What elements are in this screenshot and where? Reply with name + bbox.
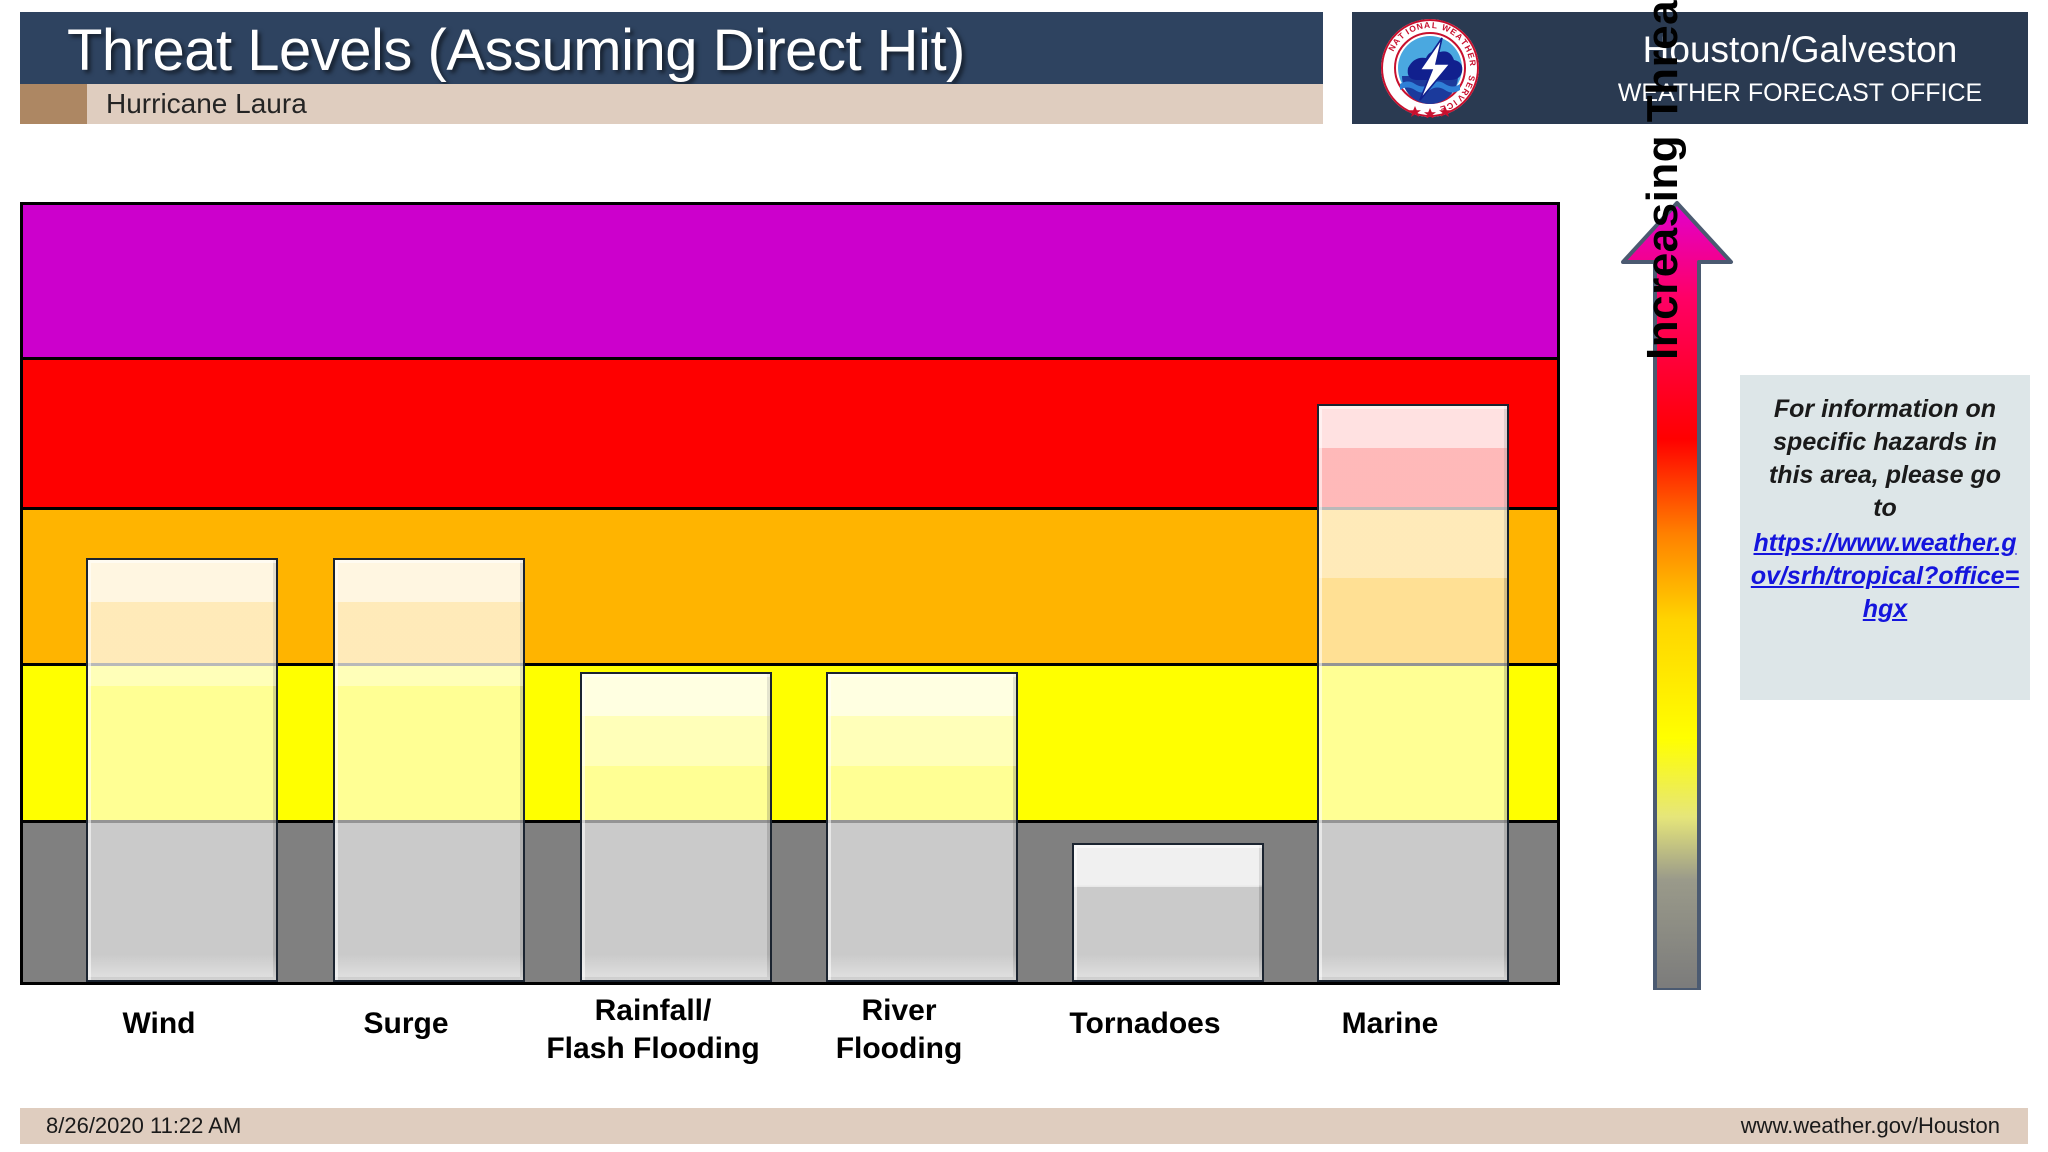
bar-marine (1317, 404, 1509, 982)
info-line-2: specific hazards in (1748, 426, 2022, 459)
office-panel: N A T I O N A L W E A T H E R S E (1352, 12, 2028, 124)
category-line: Flash Flooding (520, 1030, 786, 1068)
category-line: River (778, 992, 1020, 1030)
category-label-river-flooding: River Flooding (778, 992, 1020, 1068)
threat-level-chart (20, 202, 1560, 985)
category-line: Rainfall/ (520, 992, 786, 1030)
bar-river-flooding (826, 672, 1018, 982)
tropical-info-link[interactable]: https://www.weather.gov/srh/tropical?off… (1748, 527, 2022, 626)
bar-surge (333, 558, 525, 982)
increasing-threat-label: Increasing Threat (1638, 0, 1688, 360)
title-bar: Threat Levels (Assuming Direct Hit) (20, 12, 1323, 84)
info-line-1: For information on (1748, 393, 2022, 426)
category-line: Surge (290, 1005, 522, 1043)
category-line: Tornadoes (1029, 1005, 1261, 1043)
subtitle-accent-block (20, 84, 87, 124)
subtitle-bar: Hurricane Laura (20, 84, 1323, 124)
info-line-4: to (1748, 492, 2022, 525)
category-line: Wind (43, 1005, 275, 1043)
footer-timestamp: 8/26/2020 11:22 AM (46, 1113, 241, 1139)
info-box: For information on specific hazards in t… (1740, 375, 2030, 700)
category-label-tornadoes: Tornadoes (1029, 1005, 1261, 1043)
threat-band-extreme (23, 205, 1557, 360)
category-label-wind: Wind (43, 1005, 275, 1043)
page-header: Threat Levels (Assuming Direct Hit) Hurr… (0, 0, 2048, 138)
page-title: Threat Levels (Assuming Direct Hit) (67, 20, 965, 82)
category-label-surge: Surge (290, 1005, 522, 1043)
bar-wind (86, 558, 278, 982)
svg-text:R: R (1467, 59, 1478, 66)
svg-text:A: A (1424, 20, 1431, 30)
category-label-rainfall-flash-flooding: Rainfall/ Flash Flooding (520, 992, 786, 1068)
category-label-marine: Marine (1274, 1005, 1506, 1043)
bar-tornadoes (1072, 843, 1264, 982)
footer-url: www.weather.gov/Houston (1741, 1113, 2000, 1139)
info-line-3: this area, please go (1748, 459, 2022, 492)
category-line: Marine (1274, 1005, 1506, 1043)
nws-logo-icon: N A T I O N A L W E A T H E R S E (1380, 18, 1480, 118)
svg-text:L: L (1431, 20, 1437, 30)
page-subtitle: Hurricane Laura (106, 88, 307, 120)
bar-rainfall-flash-flooding (580, 672, 772, 982)
page-footer: 8/26/2020 11:22 AM www.weather.gov/Houst… (20, 1108, 2028, 1144)
category-line: Flooding (778, 1030, 1020, 1068)
